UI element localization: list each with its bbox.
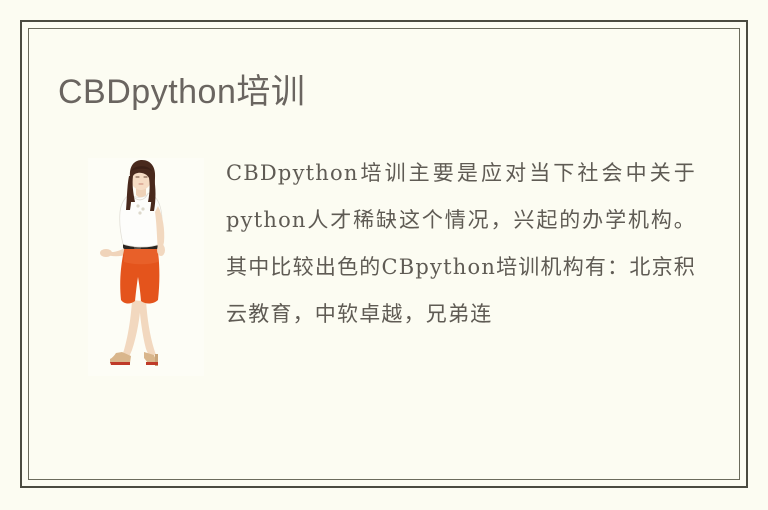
article-figure-image	[88, 158, 204, 376]
page-title: CBDpython培训	[58, 64, 305, 113]
article-page: CBDpython培训	[0, 0, 768, 510]
article-content: CBDpython培训主要是应对当下社会中关于python人才稀缺这个情况，兴起…	[58, 150, 698, 450]
article-body-text: CBDpython培训主要是应对当下社会中关于python人才稀缺这个情况，兴起…	[226, 150, 696, 338]
